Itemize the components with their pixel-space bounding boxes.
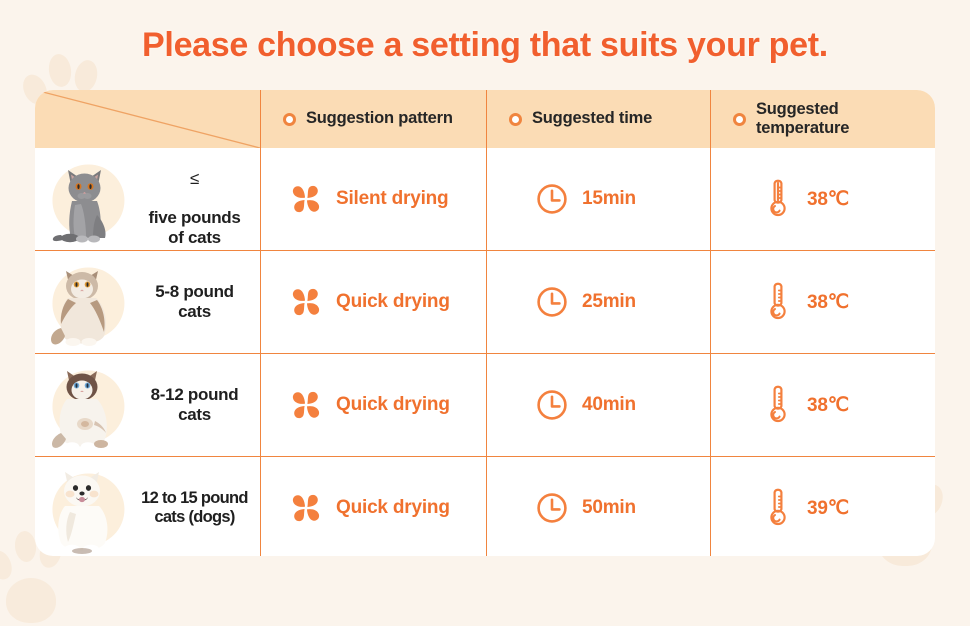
page-title: Please choose a setting that suits your … (0, 26, 970, 65)
ring-bullet-icon (733, 113, 746, 126)
time-value: 25min (582, 291, 636, 313)
pet-cell: 5-8 pound cats (35, 251, 261, 353)
diagonal-divider-icon (35, 90, 260, 148)
temperature-value: 38℃ (807, 394, 849, 417)
mode-cell: Quick drying (261, 354, 487, 456)
settings-table: Suggestion pattern Suggested time Sugges… (35, 90, 935, 556)
temperature-cell: 38℃ (711, 251, 935, 353)
temperature-value: 38℃ (807, 188, 849, 211)
pet-cell: 12 to 15 pound cats (dogs) (35, 457, 261, 556)
time-value: 40min (582, 394, 636, 416)
pet-label: 8-12 pound cats (135, 385, 254, 424)
column-header-suggested-time: Suggested time (487, 90, 711, 148)
column-header-suggestion-pattern: Suggestion pattern (261, 90, 487, 148)
pet-label: 5-8 pound cats (135, 282, 254, 321)
temperature-cell: 38℃ (711, 148, 935, 250)
column-header-label: Suggestion pattern (306, 109, 453, 128)
pet-label: ≤ five pounds of cats (135, 151, 254, 248)
pet-cell: 8-12 pound cats (35, 354, 261, 456)
mode-value: Quick drying (336, 291, 450, 313)
column-header-suggested-temperature: Suggested temperature (711, 90, 935, 148)
clock-icon (535, 285, 569, 319)
fluffy-brown-white-cat-photo (39, 254, 135, 350)
white-pomeranian-dog-photo (39, 460, 135, 556)
pet-label: 12 to 15 pound cats (dogs) (135, 489, 254, 527)
fan-icon (287, 283, 325, 321)
temperature-cell: 39℃ (711, 457, 935, 556)
temperature-value: 38℃ (807, 291, 849, 314)
temperature-value: 39℃ (807, 497, 849, 520)
time-value: 15min (582, 188, 636, 210)
table-row: ≤ five pounds of cats Silent drying (35, 148, 935, 251)
pet-cell: ≤ five pounds of cats (35, 148, 261, 250)
column-header-label: Suggested temperature (756, 100, 935, 138)
ring-bullet-icon (509, 113, 522, 126)
less-than-equal-symbol: ≤ (135, 170, 254, 187)
clock-icon (535, 388, 569, 422)
mode-cell: Silent drying (261, 148, 487, 250)
time-cell: 50min (487, 457, 711, 556)
fan-icon (287, 386, 325, 424)
mode-cell: Quick drying (261, 457, 487, 556)
table-header-row: Suggestion pattern Suggested time Sugges… (35, 90, 935, 148)
clock-icon (535, 182, 569, 216)
mode-value: Quick drying (336, 497, 450, 519)
table-row: 8-12 pound cats Quick drying (35, 354, 935, 457)
thermometer-icon (765, 282, 791, 322)
time-cell: 15min (487, 148, 711, 250)
thermometer-icon (765, 385, 791, 425)
clock-icon (535, 491, 569, 525)
table-row: 5-8 pound cats Quick drying (35, 251, 935, 354)
mode-value: Silent drying (336, 188, 448, 210)
pet-label-text: five pounds of cats (148, 208, 240, 247)
ring-bullet-icon (283, 113, 296, 126)
mode-value: Quick drying (336, 394, 450, 416)
fan-icon (287, 180, 325, 218)
table-row: 12 to 15 pound cats (dogs) Quick drying (35, 457, 935, 556)
table-corner-cell (35, 90, 261, 148)
fan-icon (287, 489, 325, 527)
thermometer-icon (765, 179, 791, 219)
mode-cell: Quick drying (261, 251, 487, 353)
column-header-label: Suggested time (532, 109, 652, 128)
thermometer-icon (765, 488, 791, 528)
time-value: 50min (582, 497, 636, 519)
grey-british-shorthair-cat-photo (39, 151, 135, 247)
ragdoll-cat-photo (39, 357, 135, 453)
temperature-cell: 38℃ (711, 354, 935, 456)
time-cell: 40min (487, 354, 711, 456)
time-cell: 25min (487, 251, 711, 353)
